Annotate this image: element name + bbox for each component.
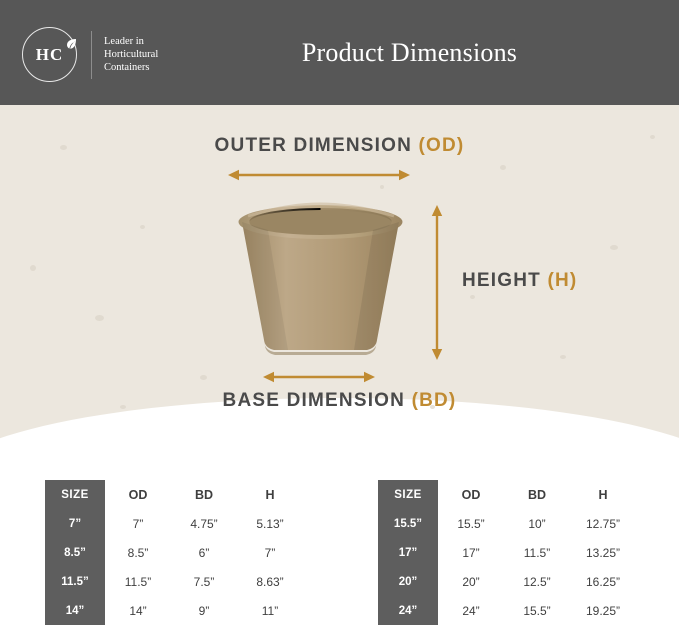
page-header: HC Leader in Horticultural Containers Pr… [0,0,679,105]
table-row: 11.5” 11.5” 7.5” 8.63” [45,567,303,596]
cell-bd: 10” [504,509,570,538]
table-row: 15.5” 15.5” 10” 12.75” [378,509,636,538]
cell-bd: 7.5” [171,567,237,596]
cell-h: 12.75” [570,509,636,538]
double-arrow-horizontal-icon [228,168,410,180]
cell-h: 11” [237,596,303,625]
cell-bd: 11.5” [504,538,570,567]
cell-size: 15.5” [378,509,438,538]
cell-od: 20” [438,567,504,596]
cell-size: 11.5” [45,567,105,596]
diagram-panel: OUTER DIMENSION (OD) [0,105,679,450]
table-row: 7” 7” 4.75” 5.13” [45,509,303,538]
table-header-row: SIZE OD BD H [378,480,636,509]
col-header-od: OD [438,480,504,509]
dimension-table-left: SIZE OD BD H 7” 7” 4.75” 5.13” 8.5” 8.5”… [45,480,303,625]
col-header-size: SIZE [45,480,105,509]
cell-size: 14” [45,596,105,625]
cell-od: 17” [438,538,504,567]
cell-h: 19.25” [570,596,636,625]
outer-dimension-text: OUTER DIMENSION [215,135,412,156]
table-row: 17” 17” 11.5” 13.25” [378,538,636,567]
cell-bd: 15.5” [504,596,570,625]
col-header-bd: BD [171,480,237,509]
cell-od: 24” [438,596,504,625]
cell-bd: 6” [171,538,237,567]
table-row: 8.5” 8.5” 6” 7” [45,538,303,567]
double-arrow-vertical-icon [431,205,443,360]
base-dimension-tag: (BD) [412,390,457,411]
base-dimension-label: BASE DIMENSION (BD) [0,390,679,412]
cell-od: 7” [105,509,171,538]
cell-size: 17” [378,538,438,567]
cell-h: 7” [237,538,303,567]
col-header-size: SIZE [378,480,438,509]
col-header-h: H [570,480,636,509]
base-dimension-text: BASE DIMENSION [223,390,406,411]
height-label: HEIGHT (H) [462,270,577,292]
cell-bd: 12.5” [504,567,570,596]
cell-od: 14” [105,596,171,625]
height-text: HEIGHT [462,270,541,291]
cell-h: 5.13” [237,509,303,538]
base-double-arrow-horizontal-icon [263,370,375,382]
outer-dimension-tag: (OD) [418,135,464,156]
cell-h: 13.25” [570,538,636,567]
cell-od: 11.5” [105,567,171,596]
table-header-row: SIZE OD BD H [45,480,303,509]
cell-h: 16.25” [570,567,636,596]
col-header-bd: BD [504,480,570,509]
cell-size: 20” [378,567,438,596]
table-row: 20” 20” 12.5” 16.25” [378,567,636,596]
plant-pot-illustration [228,200,413,360]
outer-dimension-label: OUTER DIMENSION (OD) [0,135,679,157]
cell-bd: 9” [171,596,237,625]
table-row: 24” 24” 15.5” 19.25” [378,596,636,625]
cell-od: 8.5” [105,538,171,567]
cell-od: 15.5” [438,509,504,538]
page-title: Product Dimensions [0,0,679,105]
col-header-h: H [237,480,303,509]
cell-size: 24” [378,596,438,625]
cell-size: 8.5” [45,538,105,567]
dimension-tables: SIZE OD BD H 7” 7” 4.75” 5.13” 8.5” 8.5”… [0,450,679,636]
cell-h: 8.63” [237,567,303,596]
table-row: 14” 14” 9” 11” [45,596,303,625]
height-tag: (H) [547,270,577,291]
cell-size: 7” [45,509,105,538]
dimension-table-right: SIZE OD BD H 15.5” 15.5” 10” 12.75” 17” … [378,480,636,625]
col-header-od: OD [105,480,171,509]
cell-bd: 4.75” [171,509,237,538]
